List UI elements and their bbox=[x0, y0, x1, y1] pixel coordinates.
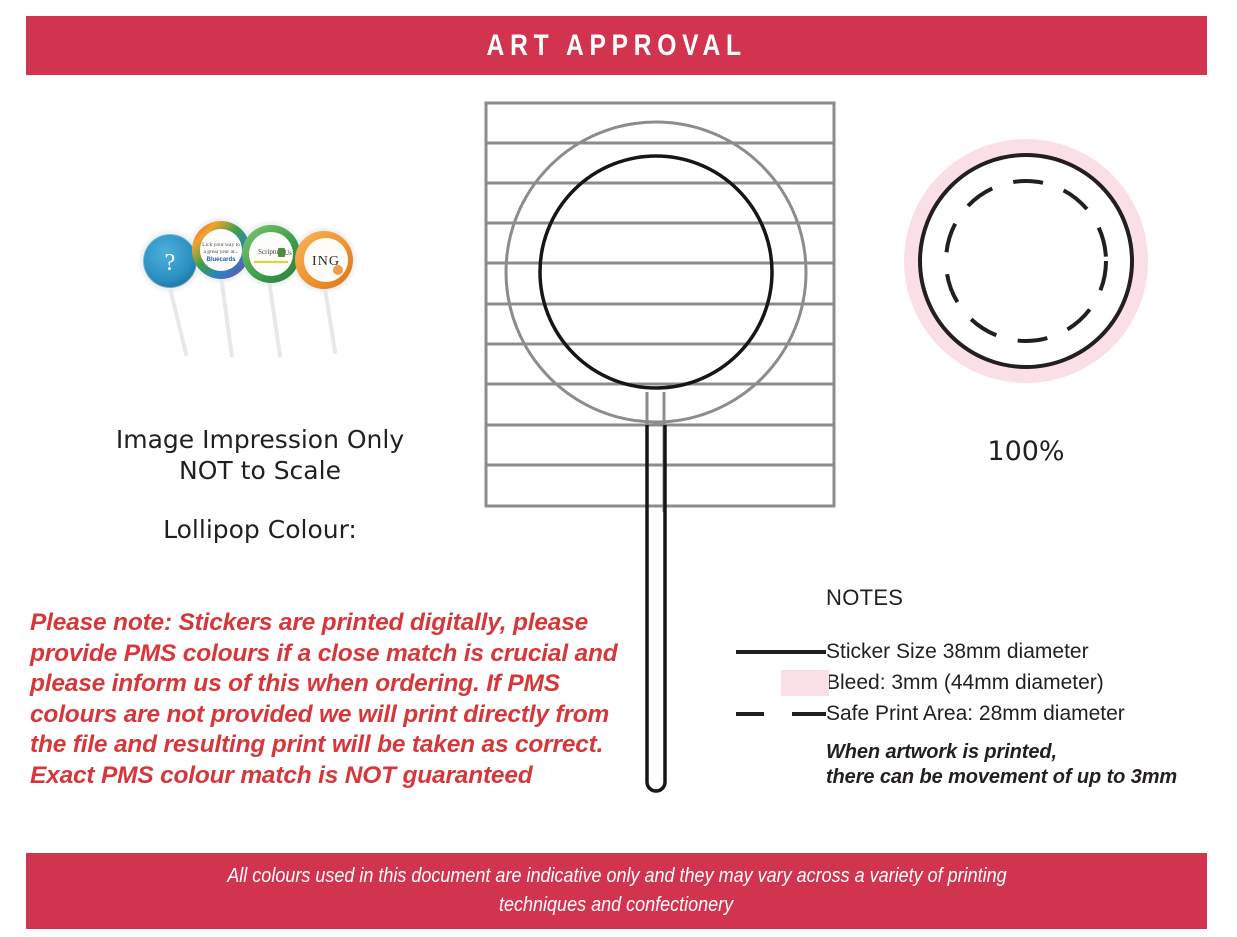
actual-size-swatch bbox=[896, 126, 1156, 396]
svg-text:a great year at...: a great year at... bbox=[203, 249, 239, 255]
legend-label-bleed: Bleed: 3mm (44mm diameter) bbox=[826, 671, 1104, 695]
bleed-circle-outline bbox=[506, 122, 806, 422]
legend-label-sticker-size: Sticker Size 38mm diameter bbox=[826, 640, 1089, 664]
dashed-line-icon bbox=[736, 698, 826, 729]
pink-fill-icon bbox=[736, 667, 826, 698]
notes-section: NOTES bbox=[826, 585, 1226, 611]
lollipop-stick bbox=[647, 425, 665, 791]
svg-text:Us: Us bbox=[284, 249, 292, 257]
legend-row-safe-area: Safe Print Area: 28mm diameter bbox=[736, 698, 1206, 729]
svg-text:?: ? bbox=[165, 250, 176, 276]
solid-line-icon bbox=[736, 636, 826, 667]
sticker-size-circle bbox=[920, 155, 1132, 367]
footer-line-2: techniques and confectionery bbox=[499, 891, 733, 920]
lollipop-blue: ? bbox=[143, 234, 197, 288]
lollipop-green: Scripture Us bbox=[242, 225, 300, 283]
movement-warning: When artwork is printed, there can be mo… bbox=[826, 740, 1226, 790]
legend-row-sticker-size: Sticker Size 38mm diameter bbox=[736, 636, 1206, 667]
lollipop-product-photo: ? Lick your way to a great year at... Bl… bbox=[128, 212, 386, 357]
notes-legend: Sticker Size 38mm diameter Bleed: 3mm (4… bbox=[736, 636, 1206, 729]
lollipop-rainbow: Lick your way to a great year at... Blue… bbox=[192, 221, 250, 279]
impression-line-1: Image Impression Only bbox=[30, 424, 490, 455]
legend-row-bleed: Bleed: 3mm (44mm diameter) bbox=[736, 667, 1206, 698]
page-title: ART APPROVAL bbox=[486, 29, 746, 63]
impression-line-2: NOT to Scale bbox=[30, 455, 490, 486]
image-impression-note: Image Impression Only NOT to Scale bbox=[30, 424, 490, 486]
art-approval-sheet: ART APPROVAL bbox=[0, 0, 1237, 937]
footer-line-1: All colours used in this document are in… bbox=[227, 862, 1006, 891]
scale-svg bbox=[896, 126, 1156, 396]
notes-title: NOTES bbox=[826, 585, 1226, 611]
header-banner: ART APPROVAL bbox=[26, 16, 1207, 75]
legend-label-safe-area: Safe Print Area: 28mm diameter bbox=[826, 702, 1125, 726]
movement-line-2: there can be movement of up to 3mm bbox=[826, 765, 1226, 790]
lollipop-orange: ING bbox=[295, 231, 353, 289]
svg-text:Bluecards: Bluecards bbox=[206, 257, 236, 263]
sticker-circle-outline bbox=[540, 156, 772, 388]
movement-line-1: When artwork is printed, bbox=[826, 740, 1226, 765]
footer-banner: All colours used in this document are in… bbox=[26, 853, 1207, 929]
measurement-grid bbox=[486, 103, 834, 506]
svg-text:Lick your way to: Lick your way to bbox=[202, 242, 240, 248]
stick-grey-upper bbox=[647, 392, 664, 512]
lollipop-photo-svg: ? Lick your way to a great year at... Bl… bbox=[128, 212, 386, 357]
lollipop-colour-label: Lollipop Colour: bbox=[30, 515, 490, 544]
scale-percent-label: 100% bbox=[896, 436, 1156, 467]
